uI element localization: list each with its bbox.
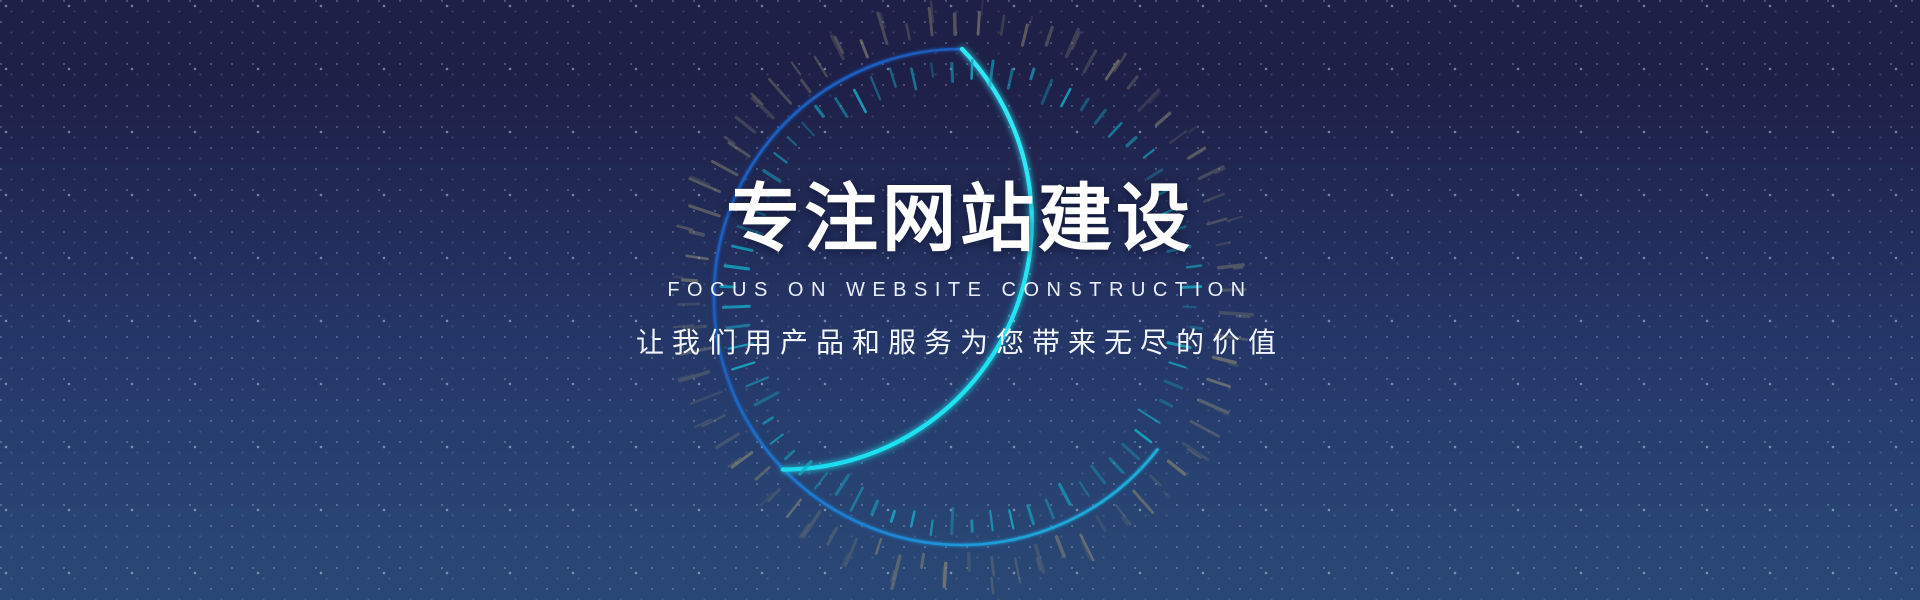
dim-blue-arc (714, 49, 1158, 545)
inner-cyan-ticks (721, 60, 1202, 535)
outer-tan-ticks (674, 0, 1252, 593)
hero-banner: 专注网站建设 FOCUS ON WEBSITE CONSTRUCTION 让我们… (0, 0, 1920, 600)
tick-ring-graphic (714, 49, 1210, 545)
